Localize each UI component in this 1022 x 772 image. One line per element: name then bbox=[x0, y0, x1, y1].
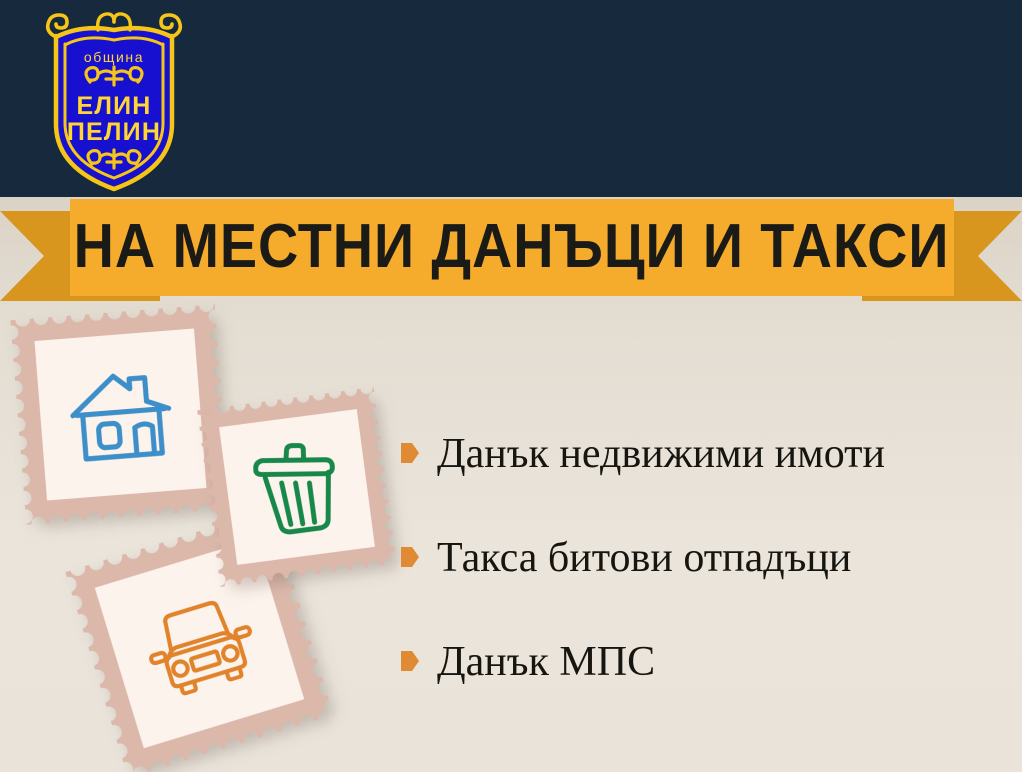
poster-root: ПРОВЕРКА И ПЛАЩАНЕ НА ЗАДЪЛЖЕНИЯ община bbox=[0, 0, 1022, 772]
list-item-label: Данък недвижими имоти bbox=[437, 430, 885, 478]
bullet-arrow-icon bbox=[400, 546, 420, 568]
crest-label-line-1: ЕЛИН bbox=[76, 92, 151, 120]
ribbon-label: НА МЕСТНИ ДАНЪЦИ И ТАКСИ bbox=[74, 216, 950, 278]
ribbon-face: НА МЕСТНИ ДАНЪЦИ И ТАКСИ bbox=[70, 199, 954, 296]
car-icon bbox=[135, 585, 265, 703]
list-item-label: Такса битови отпадъци bbox=[437, 534, 851, 582]
trash-bin-icon bbox=[245, 431, 349, 543]
ribbon-banner: НА МЕСТНИ ДАНЪЦИ И ТАКСИ bbox=[0, 197, 1022, 307]
crest-label-line-2: ПЕЛИН bbox=[67, 118, 161, 146]
bullet-arrow-icon bbox=[400, 442, 420, 464]
list-item[interactable]: Такса битови отпадъци bbox=[400, 534, 1010, 582]
list-item-label: Данък МПС bbox=[437, 638, 655, 686]
house-icon bbox=[63, 361, 178, 467]
municipality-crest-logo: община ЕЛИН ПЕЛИН bbox=[40, 6, 188, 192]
list-item[interactable]: Данък недвижими имоти bbox=[400, 430, 1010, 478]
list-item[interactable]: Данък МПС bbox=[400, 638, 1010, 686]
trash-bin-icon-holder bbox=[197, 387, 397, 587]
bullet-arrow-icon bbox=[400, 650, 420, 672]
crest-icon: община ЕЛИН ПЕЛИН bbox=[40, 6, 188, 192]
crest-label-top: община bbox=[84, 49, 144, 65]
stamp-card-waste bbox=[197, 387, 397, 587]
service-list: Данък недвижими имоти Такса битови отпад… bbox=[400, 430, 1010, 686]
